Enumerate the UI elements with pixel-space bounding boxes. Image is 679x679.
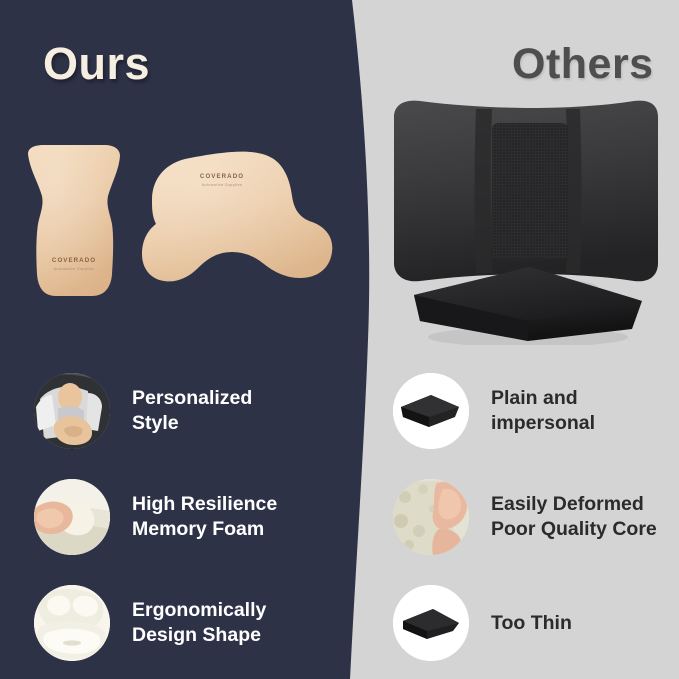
feature-label: Plain and impersonal (491, 386, 595, 436)
feature-label: Personalized Style (132, 386, 252, 436)
list-item: Plain and impersonal (393, 358, 668, 464)
list-item: Personalized Style (34, 358, 334, 464)
others-heading: Others (512, 40, 654, 89)
list-item: Ergonomically Design Shape (34, 570, 334, 676)
flat-black-cushion-photo (393, 373, 469, 449)
hand-pressing-foam-photo (34, 479, 110, 555)
others-feature-list: Plain and impersonal (393, 358, 668, 676)
contoured-foam-cushion-photo (34, 585, 110, 661)
feature-label: Too Thin (491, 611, 572, 636)
others-product-images (380, 95, 670, 345)
list-item: Too Thin (393, 570, 668, 676)
black-back-pillow-shape (394, 101, 658, 296)
thin-black-cushion-photo (393, 585, 469, 661)
feature-label: High Resilience Memory Foam (132, 492, 277, 542)
svg-text:Automotive Supplies: Automotive Supplies (54, 267, 94, 271)
hand-crushing-cheap-foam-photo (393, 479, 469, 555)
lumbar-cushion-shape: COVERADO Automotive Supplies (142, 152, 332, 282)
svg-text:COVERADO: COVERADO (200, 173, 244, 180)
ours-product-images: COVERADO Automotive Supplies COVERADO Au… (0, 140, 340, 330)
ours-heading: Ours (43, 38, 150, 90)
headrest-cushion-shape: COVERADO Automotive Supplies (28, 145, 120, 296)
svg-text:COVERADO: COVERADO (52, 257, 96, 264)
black-seat-cushion-shape (414, 267, 642, 345)
car-seat-with-cushions-photo (34, 373, 110, 449)
svg-text:Automotive Supplies: Automotive Supplies (202, 183, 242, 187)
feature-label: Ergonomically Design Shape (132, 598, 266, 648)
list-item: Easily Deformed Poor Quality Core (393, 464, 668, 570)
list-item: High Resilience Memory Foam (34, 464, 334, 570)
ours-feature-list: Personalized Style High Resilience Memor… (34, 358, 334, 676)
comparison-infographic: Ours Others (0, 0, 679, 679)
feature-label: Easily Deformed Poor Quality Core (491, 492, 657, 542)
